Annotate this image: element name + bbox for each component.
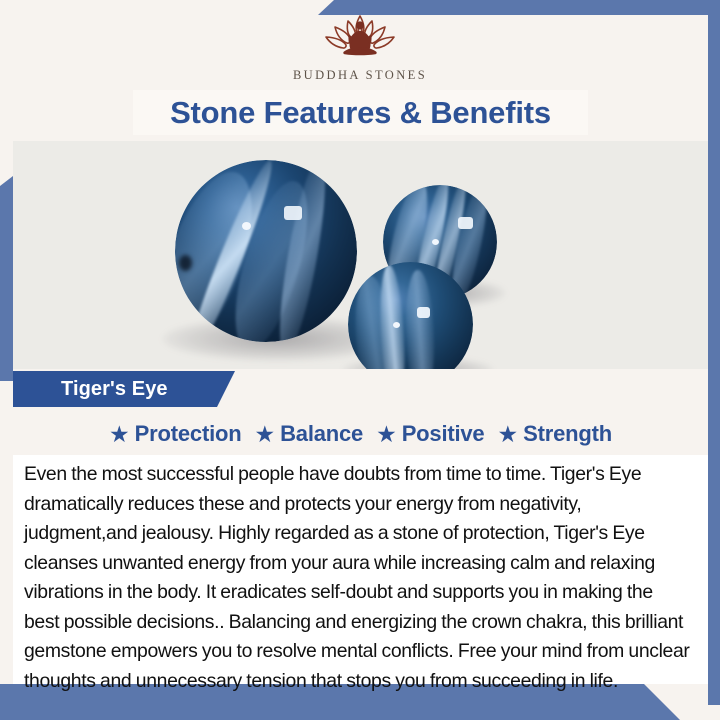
gemstone-sphere-large — [175, 160, 357, 342]
stone-name-banner: Tiger's Eye — [13, 371, 235, 407]
buddha-lotus-icon — [304, 10, 416, 66]
specular-glint — [458, 217, 473, 229]
benefit-label: Balance — [280, 421, 363, 447]
title-card: Stone Features & Benefits — [133, 90, 588, 135]
benefit-label: Protection — [135, 421, 242, 447]
page-title: Stone Features & Benefits — [170, 95, 551, 131]
benefit-label: Positive — [402, 421, 485, 447]
photo-scene — [13, 141, 708, 369]
specular-glint — [284, 206, 302, 220]
star-icon: ★ — [109, 423, 130, 446]
benefit-item-positive: ★ Positive — [376, 421, 484, 447]
specular-glint — [432, 239, 439, 245]
stone-benefits-infographic: BUDDHA STONES Stone Features & Benefits — [0, 0, 720, 720]
star-icon: ★ — [254, 423, 275, 446]
benefit-item-balance: ★ Balance — [254, 421, 363, 447]
stone-name: Tiger's Eye — [61, 378, 168, 401]
surface-mark — [179, 255, 192, 271]
decorative-band-right — [708, 15, 720, 705]
description-card: Even the most successful people have dou… — [13, 455, 708, 684]
star-icon: ★ — [497, 423, 518, 446]
brand-logo: BUDDHA STONES — [0, 10, 720, 90]
benefit-label: Strength — [523, 421, 612, 447]
product-photo — [13, 141, 708, 369]
specular-glint — [417, 307, 430, 318]
benefits-list: ★ Protection ★ Balance ★ Positive ★ Stre… — [13, 415, 708, 453]
description-text: Even the most successful people have dou… — [24, 460, 692, 696]
brand-wordmark: BUDDHA STONES — [293, 68, 427, 83]
specular-glint — [393, 322, 400, 328]
benefit-item-strength: ★ Strength — [497, 421, 611, 447]
benefit-item-protection: ★ Protection — [109, 421, 241, 447]
star-icon: ★ — [376, 423, 397, 446]
decorative-band-left — [0, 176, 13, 381]
